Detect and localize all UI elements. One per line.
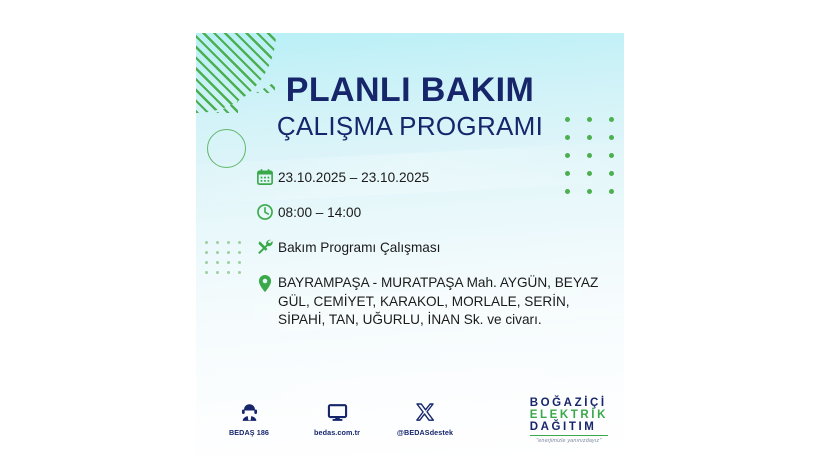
tools-icon <box>252 238 278 260</box>
poster-card: PLANLI BAKIM ÇALIŞMA PROGRAMI <box>196 33 624 455</box>
time-range-text: 08:00 – 14:00 <box>278 203 361 222</box>
info-row-date: 23.10.2025 – 23.10.2025 <box>252 168 612 190</box>
dot <box>609 153 614 158</box>
dot <box>238 251 241 254</box>
dot <box>238 261 241 264</box>
brand-tagline: "enerjimizle yanınızdayız" <box>530 438 608 444</box>
dot <box>587 153 592 158</box>
page-subtitle: ÇALIŞMA PROGRAMI <box>196 112 624 141</box>
title-block: PLANLI BAKIM ÇALIŞMA PROGRAMI <box>196 73 624 141</box>
address-text: BAYRAMPAŞA - MURATPAŞA Mah. AYGÜN, BEYAZ… <box>278 273 612 330</box>
contact-phone-label: BEDAŞ 186 <box>229 428 269 437</box>
dot <box>227 251 230 254</box>
info-row-work-type: Bakım Programı Çalışması <box>252 238 612 260</box>
clock-icon <box>252 203 278 225</box>
call-center-agent-icon <box>239 399 260 425</box>
dot <box>238 271 241 274</box>
calendar-icon <box>252 168 278 190</box>
dot <box>205 261 208 264</box>
contact-website-label: bedas.com.tr <box>314 428 360 437</box>
contact-phone[interactable]: BEDAŞ 186 <box>216 399 282 437</box>
dot <box>227 271 230 274</box>
work-type-text: Bakım Programı Çalışması <box>278 238 440 257</box>
dot <box>216 261 219 264</box>
contact-x-twitter-label: @BEDASdestek <box>397 428 453 437</box>
info-row-time: 08:00 – 14:00 <box>252 203 612 225</box>
bedas-brand-logo: BOĞAZİÇİ ELEKTRİK DAĞITIM "enerjimizle y… <box>530 398 608 444</box>
dot <box>227 261 230 264</box>
social-contact-group: BEDAŞ 186 bedas.com.tr <box>216 399 458 437</box>
brand-underline <box>530 435 608 436</box>
dot <box>216 251 219 254</box>
dot <box>565 153 570 158</box>
dot <box>216 271 219 274</box>
contact-x-twitter[interactable]: @BEDASdestek <box>392 399 458 437</box>
date-range-text: 23.10.2025 – 23.10.2025 <box>278 168 429 187</box>
dot <box>238 241 241 244</box>
dot <box>205 251 208 254</box>
dot <box>205 271 208 274</box>
info-row-address: BAYRAMPAŞA - MURATPAŞA Mah. AYGÜN, BEYAZ… <box>252 273 612 330</box>
footer: BEDAŞ 186 bedas.com.tr <box>196 393 624 455</box>
info-list: 23.10.2025 – 23.10.2025 08:00 – 14:00 <box>252 168 612 343</box>
dot <box>216 241 219 244</box>
dot-grid-decoration-left <box>205 241 249 281</box>
dot <box>205 241 208 244</box>
contact-website[interactable]: bedas.com.tr <box>304 399 370 437</box>
poster-canvas: PLANLI BAKIM ÇALIŞMA PROGRAMI <box>0 0 820 461</box>
page-title: PLANLI BAKIM <box>196 73 624 109</box>
x-twitter-icon <box>415 399 435 425</box>
brand-line-dagitim: DAĞITIM <box>530 422 608 434</box>
brand-line-elektrik: ELEKTRİK <box>530 410 608 422</box>
dot <box>227 241 230 244</box>
monitor-icon <box>327 399 348 425</box>
location-pin-icon <box>252 274 278 296</box>
